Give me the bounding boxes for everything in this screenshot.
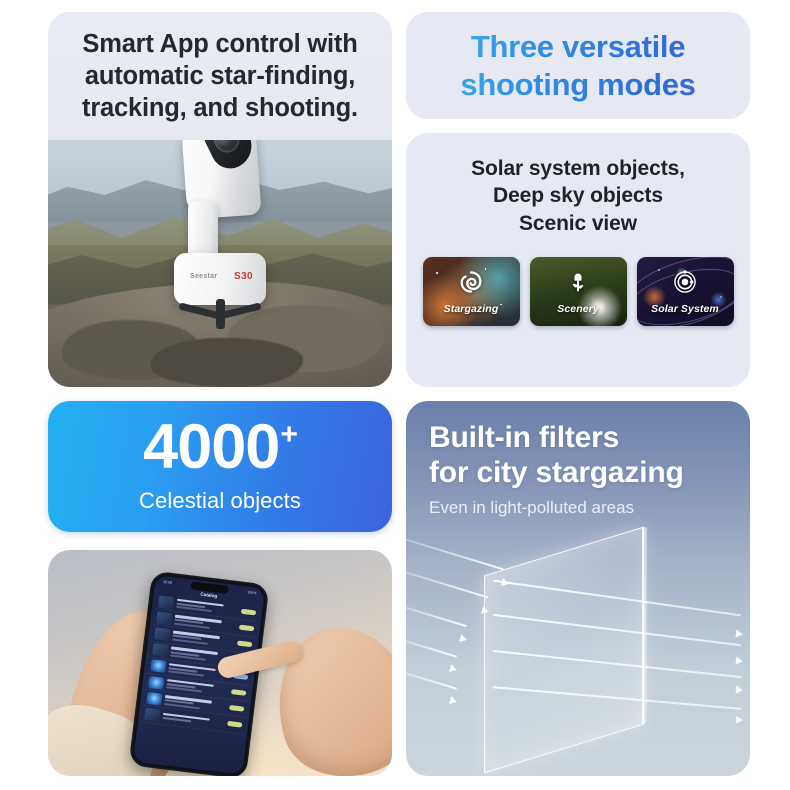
incoming-ray	[406, 538, 504, 571]
status-badge	[229, 705, 244, 712]
glass-filter-plate	[484, 527, 644, 774]
orbit-icon	[672, 269, 698, 295]
flower-icon	[565, 269, 591, 295]
celestial-count-value: 4000 +	[143, 419, 297, 477]
object-thumbnail	[156, 611, 172, 625]
smartphone: 10:09 100% Catalog	[129, 571, 270, 776]
panel-modes-column: Three versatile shooting modes Solar sys…	[406, 12, 750, 387]
brand-label: Seestar	[190, 273, 217, 280]
incoming-ray	[406, 570, 488, 599]
ray-arrowhead	[459, 634, 468, 644]
ray-arrowhead	[449, 696, 458, 706]
modes-lead: Solar system objects, Deep sky objects S…	[471, 155, 685, 237]
ray-arrowhead	[449, 664, 458, 674]
filters-copy: Built-in filters for city stargazing Eve…	[429, 421, 736, 518]
celestial-count-plus: +	[280, 421, 297, 449]
status-badge	[241, 609, 256, 616]
status-badge	[227, 721, 242, 728]
mode-card-stargazing[interactable]: Stargazing	[423, 257, 520, 326]
incoming-ray	[406, 638, 457, 657]
status-badge	[239, 625, 254, 632]
model-label: S30	[234, 271, 253, 282]
galaxy-spiral-icon	[458, 269, 484, 295]
filters-subtitle: Even in light-polluted areas	[429, 498, 736, 518]
infographic-board: Seestar S30 Smart App control with autom…	[0, 0, 790, 790]
object-thumbnail	[154, 627, 170, 641]
incoming-ray	[406, 605, 467, 627]
star-dot	[485, 268, 487, 270]
ray-arrowhead	[736, 657, 744, 666]
object-thumbnail	[148, 676, 164, 690]
modes-lead-line-1: Solar system objects,	[471, 157, 685, 180]
tripod-leg	[216, 299, 225, 329]
ray-arrowhead	[736, 686, 744, 695]
rock	[151, 338, 302, 387]
app-control-copy: Smart App control with automatic star-fi…	[48, 12, 392, 140]
filters-title-line-2: for city stargazing	[429, 456, 684, 489]
filters-title: Built-in filters for city stargazing	[429, 421, 736, 491]
panel-celestial-count: 4000 + Celestial objects	[48, 401, 392, 532]
panel-app-control: Seestar S30 Smart App control with autom…	[48, 12, 392, 387]
mode-card-scenery[interactable]: Scenery	[530, 257, 627, 326]
object-thumbnail	[158, 595, 174, 609]
mode-card-label: Solar System	[637, 303, 734, 315]
celestial-count-caption: Celestial objects	[139, 488, 301, 514]
celestial-count-number: 4000	[143, 419, 279, 477]
phone-screen[interactable]: 10:09 100% Catalog	[133, 575, 265, 775]
panel-modes-heading: Three versatile shooting modes	[406, 12, 750, 119]
incoming-ray	[406, 670, 457, 689]
panel-modes: Solar system objects, Deep sky objects S…	[406, 133, 750, 387]
ray-arrowhead	[736, 716, 744, 725]
status-battery: 100%	[247, 590, 257, 595]
status-badge	[231, 689, 246, 696]
modes-lead-line-2: Deep sky objects	[493, 184, 663, 207]
object-thumbnail	[146, 692, 162, 706]
plate-edge	[642, 527, 647, 725]
object-thumbnail	[150, 660, 166, 674]
tripod	[176, 299, 264, 333]
ray-arrowhead	[735, 630, 743, 639]
filters-title-line-1: Built-in filters	[429, 421, 619, 454]
mode-card-label: Scenery	[530, 303, 627, 315]
panel-filters: Built-in filters for city stargazing Eve…	[406, 401, 750, 776]
status-time: 10:09	[163, 580, 172, 585]
object-thumbnail	[145, 708, 161, 722]
star-dot	[720, 296, 722, 298]
mode-card-solar-system[interactable]: Solar System	[637, 257, 734, 326]
mode-card-list: Stargazing Scenery	[423, 257, 734, 326]
status-badge	[237, 641, 252, 648]
modes-lead-line-3: Scenic view	[519, 212, 637, 235]
mode-card-label: Stargazing	[423, 303, 520, 315]
telescope-device: Seestar S30	[162, 113, 278, 329]
object-thumbnail	[152, 643, 168, 657]
panel-phone-photo: 10:09 100% Catalog	[48, 550, 392, 776]
panel-count-column: 4000 + Celestial objects 10:09 100% Cata…	[48, 401, 392, 776]
app-control-headline: Smart App control with automatic star-fi…	[48, 28, 392, 124]
modes-heading-title: Three versatile shooting modes	[406, 28, 750, 102]
telescope-base: Seestar S30	[174, 253, 266, 305]
